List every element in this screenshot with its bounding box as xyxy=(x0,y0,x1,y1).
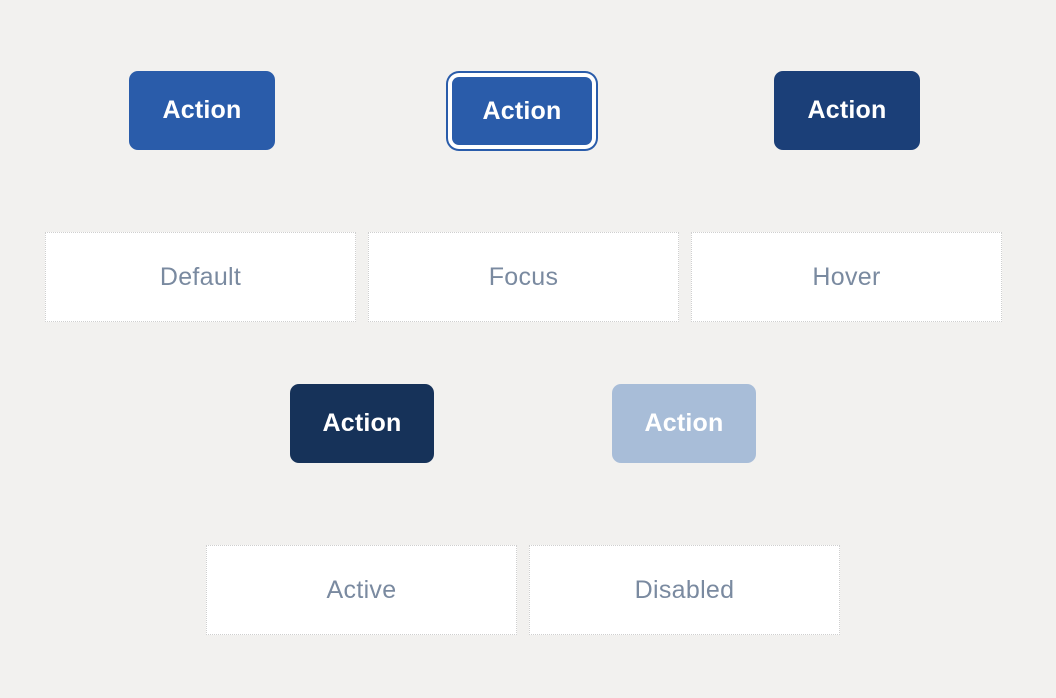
action-button-hover-label: Action xyxy=(808,96,887,125)
caption-card-focus: Focus xyxy=(368,232,679,322)
caption-card-disabled: Disabled xyxy=(529,545,840,635)
action-button-focus-label: Action xyxy=(483,97,562,126)
caption-label-default: Default xyxy=(160,263,241,292)
action-button-default-label: Action xyxy=(163,96,242,125)
action-button-focus[interactable]: Action xyxy=(452,77,592,145)
caption-label-active: Active xyxy=(327,576,397,605)
caption-label-disabled: Disabled xyxy=(635,576,735,605)
action-button-hover[interactable]: Action xyxy=(774,71,920,150)
caption-card-default: Default xyxy=(45,232,356,322)
caption-label-hover: Hover xyxy=(812,263,880,292)
caption-label-focus: Focus xyxy=(489,263,559,292)
action-button-disabled-label: Action xyxy=(645,409,724,438)
action-button-default[interactable]: Action xyxy=(129,71,275,150)
button-states-showcase: Action Action Action Default Focus Hover… xyxy=(0,0,1056,698)
caption-card-active: Active xyxy=(206,545,517,635)
action-button-disabled: Action xyxy=(612,384,756,463)
action-button-active-label: Action xyxy=(323,409,402,438)
caption-card-hover: Hover xyxy=(691,232,1002,322)
action-button-active[interactable]: Action xyxy=(290,384,434,463)
